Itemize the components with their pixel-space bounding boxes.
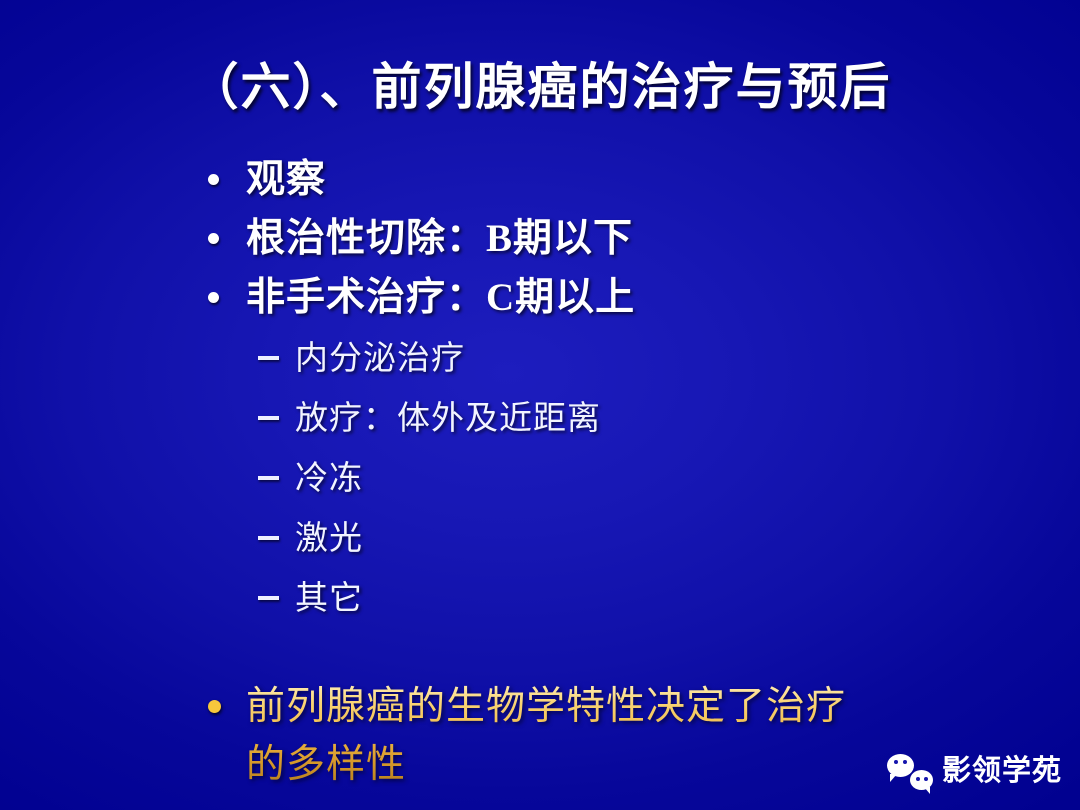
slide-canvas: （六）、前列腺癌的治疗与预后 观察 根治性切除：B期以下 非手术治疗：C期以上 … [0,0,1080,810]
list-item-label: 非手术治疗：C期以上 [246,270,635,325]
bullet-dash-icon [258,356,279,360]
watermark-label: 影领学苑 [942,757,1062,786]
sub-list-item-label: 激光 [295,509,363,569]
bullet-dash-icon [258,476,279,480]
sub-list-item-label: 放疗：体外及近距离 [295,389,601,449]
list-item: 非手术治疗：C期以上 [0,270,1080,325]
sub-list-item: 内分泌治疗 [0,329,1080,389]
sub-list-item-label: 其它 [295,569,363,629]
highlight-list-item: 前列腺癌的生物学特性决定了治疗的多样性 [208,678,908,794]
list-item-label: 观察 [246,152,326,207]
bullet-dot-icon [208,233,219,244]
page-title: （六）、前列腺癌的治疗与预后 [0,60,1080,115]
wechat-logo-icon [887,752,933,790]
bullet-dot-icon [208,174,219,185]
bullet-dot-icon [208,292,219,303]
bullet-list: 观察 根治性切除：B期以下 非手术治疗：C期以上 内分泌治疗 放疗：体外及近距离… [0,152,1080,629]
sub-list-item: 激光 [0,509,1080,569]
sub-list-item: 其它 [0,569,1080,629]
list-item: 根治性切除：B期以下 [0,211,1080,266]
list-item-label: 根治性切除：B期以下 [246,211,633,266]
sub-list-item-label: 内分泌治疗 [295,329,465,389]
bullet-dash-icon [258,416,279,420]
bullet-dot-icon [208,700,221,713]
list-item: 观察 [0,152,1080,207]
highlight-label: 前列腺癌的生物学特性决定了治疗的多样性 [246,678,866,794]
watermark: 影领学苑 [887,752,1062,790]
bullet-dash-icon [258,596,279,600]
sub-list-item: 放疗：体外及近距离 [0,389,1080,449]
sub-list-item-label: 冷冻 [295,449,363,509]
sub-list-item: 冷冻 [0,449,1080,509]
bullet-dash-icon [258,536,279,540]
